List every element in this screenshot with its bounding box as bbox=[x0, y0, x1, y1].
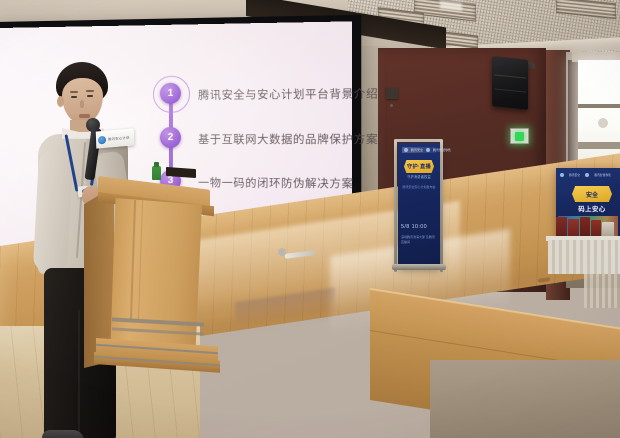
nose bbox=[80, 100, 84, 108]
rollup-subtitle-secondary: 腾讯安全安心计划发布会 bbox=[401, 185, 437, 189]
rollup-logo-label-1: 腾讯安全 bbox=[411, 148, 423, 152]
slide-step-text-2: 基于互联网大数据的品牌保护方案 bbox=[198, 131, 378, 148]
floor-object bbox=[278, 248, 286, 256]
window-mullion bbox=[578, 142, 620, 149]
slide-step-number-1: 1 bbox=[160, 83, 181, 104]
water-bottle-cap bbox=[154, 162, 159, 167]
water-bottle bbox=[152, 166, 161, 180]
trouser-leg-seam bbox=[78, 310, 80, 438]
slide-step-text-3: 一物一码的闭环防伪解决方案 bbox=[198, 174, 354, 191]
display-table-skirt bbox=[548, 240, 620, 274]
backdrop-logo-row: 腾讯安全 腾讯智慧零售 bbox=[560, 172, 616, 178]
product-box bbox=[556, 217, 567, 237]
pa-speaker bbox=[492, 56, 528, 110]
product-box bbox=[568, 219, 579, 237]
slide-step-text-1: 腾讯安全与安心计划平台背景介绍 bbox=[198, 85, 378, 103]
rollup-logo-label-2: 腾讯智慧零售 bbox=[433, 148, 451, 152]
wall-control-plate[interactable] bbox=[386, 88, 398, 99]
rollup-footer-location: 深圳腾讯滨海大厦 及腾讯直播间 bbox=[401, 235, 437, 244]
auditorium-floor bbox=[430, 360, 620, 438]
mouth bbox=[79, 114, 90, 118]
backdrop-logo-label-1: 腾讯安全 bbox=[569, 173, 580, 177]
rollup-date-time: 5/8 10:00 bbox=[401, 224, 437, 230]
tencent-logo-icon bbox=[560, 173, 564, 177]
ear bbox=[57, 96, 64, 107]
microphone-flag: 腾讯安心计划 bbox=[96, 128, 135, 148]
eyebrow bbox=[86, 90, 94, 92]
product-box bbox=[591, 220, 601, 237]
rollup-frame-top bbox=[394, 139, 443, 142]
exit-sign bbox=[510, 128, 529, 144]
window-hardware bbox=[598, 118, 608, 128]
rollup-title-text: 守护·直播 bbox=[407, 163, 431, 170]
rollup-title-badge: 守护·直播 bbox=[404, 160, 434, 173]
microphone-flag-text: 腾讯安心计划 bbox=[108, 135, 130, 142]
backdrop-hex-text: 安全 bbox=[586, 190, 598, 199]
rollup-subtitle: 守护消费者权益 bbox=[404, 174, 434, 179]
eyebrow bbox=[70, 91, 78, 93]
product-box bbox=[580, 217, 590, 237]
slide-step-number-2: 2 bbox=[160, 127, 181, 148]
rollup-base-stand bbox=[392, 264, 446, 270]
tencent-logo-icon bbox=[98, 135, 106, 144]
backdrop-hex-badge: 安全 bbox=[572, 186, 612, 202]
window-mullion bbox=[578, 104, 620, 108]
exit-icon bbox=[515, 132, 524, 141]
presentation-photo-scene: 1 腾讯安全与安心计划平台背景介绍 2 基于互联网大数据的品牌保护方案 3 一物… bbox=[0, 0, 620, 438]
rollup-frame-left bbox=[394, 140, 397, 272]
rollup-header-logos: 腾讯安全 腾讯智慧零售 bbox=[402, 147, 436, 153]
product-box bbox=[602, 222, 614, 237]
retail-logo-icon bbox=[585, 173, 589, 177]
backdrop-main-text: 码上安心 bbox=[566, 204, 618, 213]
left-arm bbox=[33, 149, 73, 273]
tencent-logo-icon bbox=[404, 148, 408, 152]
backdrop-logo-label-2: 腾讯智慧零售 bbox=[594, 173, 611, 177]
rollup-frame-right bbox=[440, 140, 443, 272]
shoe bbox=[42, 430, 84, 438]
retail-logo-icon bbox=[426, 148, 430, 152]
wall-sensor-dot bbox=[390, 104, 393, 107]
